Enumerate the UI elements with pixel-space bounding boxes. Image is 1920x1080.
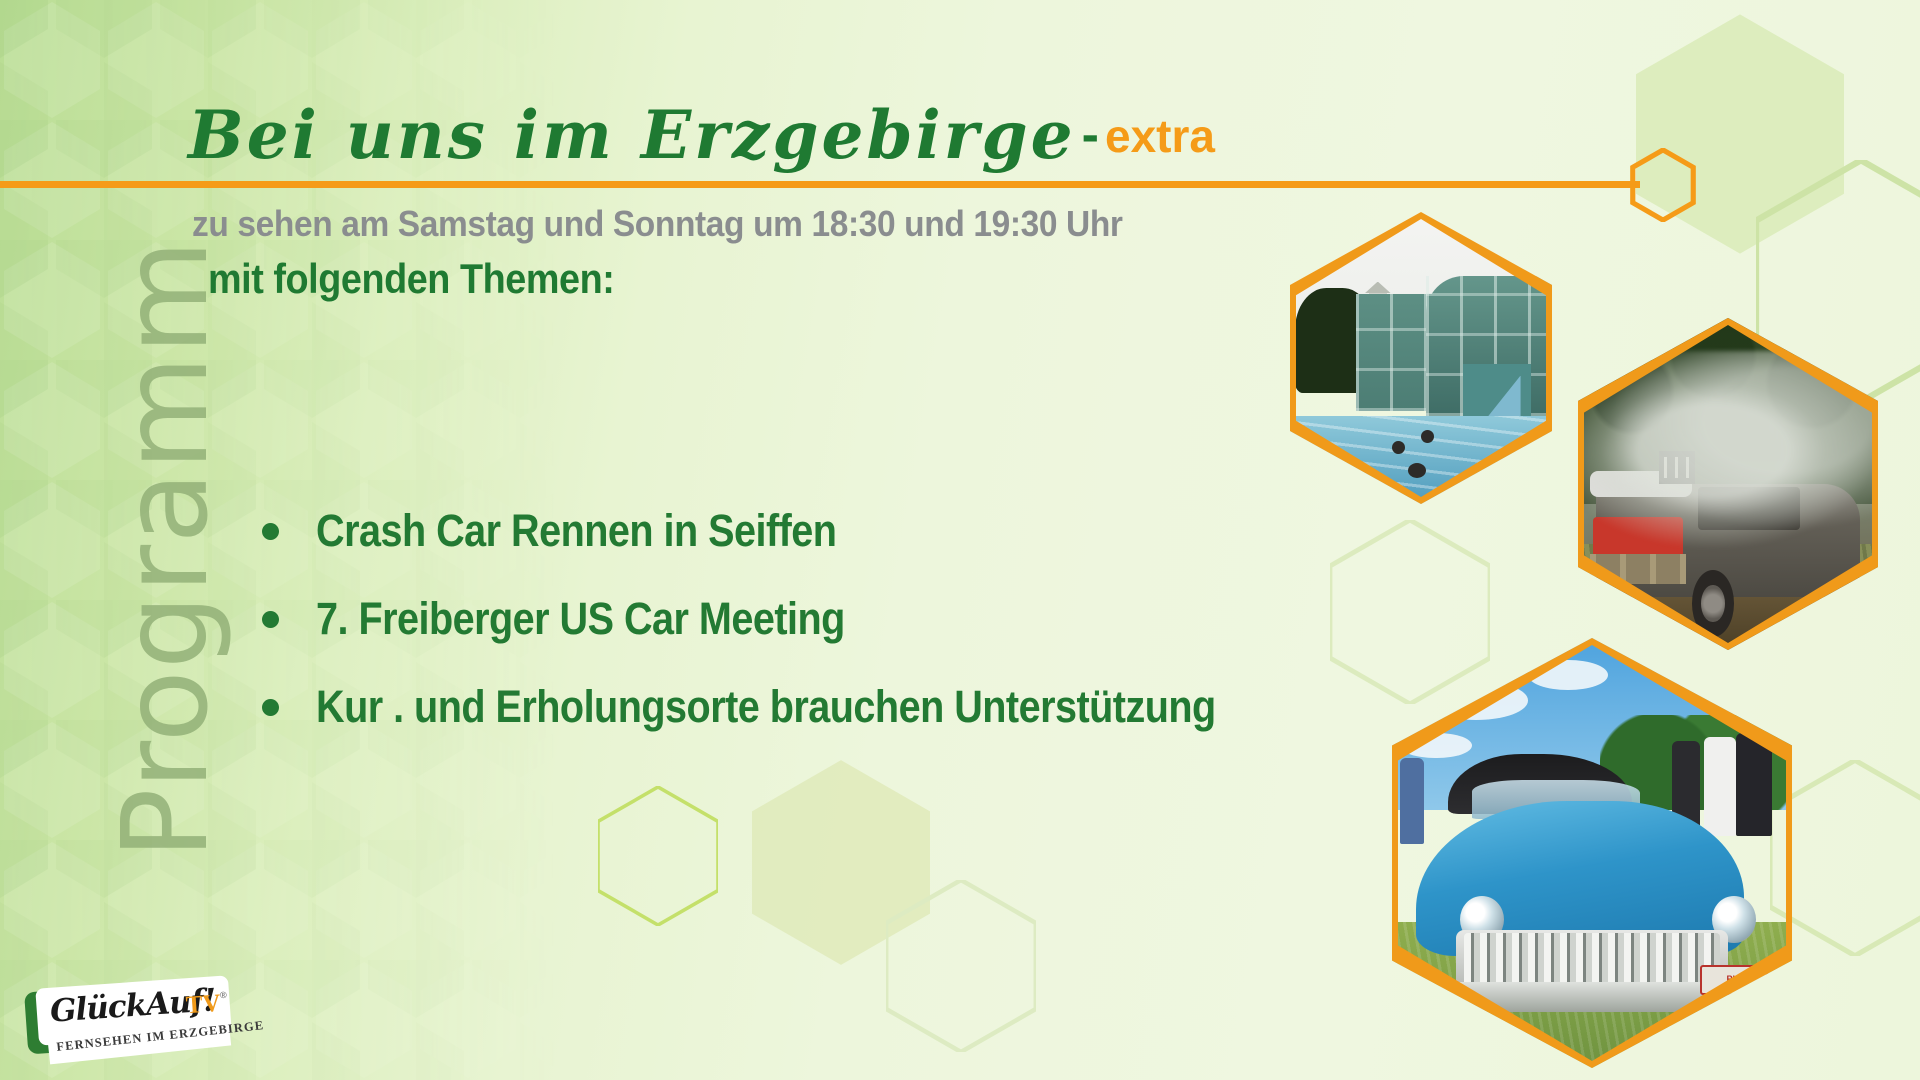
topics-list: Crash Car Rennen in Seiffen 7. Freiberge… (262, 505, 1338, 769)
topics-intro-label: mit folgenden Themen: (208, 255, 614, 303)
hex-photo-swimming-pool (1290, 212, 1552, 504)
topic-label: Kur . und Erholungsorte brauchen Unterst… (316, 681, 1216, 733)
hex-photo-classic-car: PIR (1392, 638, 1792, 1068)
brand-logo: GlückAuf! TV ® FERNSEHEN IM ERZGEBIRGE (26, 982, 236, 1068)
logo-registered-icon: ® (220, 990, 227, 1000)
slide-canvas: Programm Bei uns im Erzgebirge-extra zu … (0, 0, 1920, 1080)
page-title: Bei uns im Erzgebirge-extra (188, 96, 1215, 174)
logo-tv-text: TV (185, 990, 222, 1020)
list-item: Crash Car Rennen in Seiffen (262, 505, 1338, 557)
header-divider-rule (0, 181, 1640, 188)
list-item: 7. Freiberger US Car Meeting (262, 593, 1338, 645)
bullet-icon (262, 611, 279, 628)
hex-photo-crash-car (1578, 318, 1878, 650)
swimming-pool-image (1290, 212, 1552, 504)
bullet-icon (262, 523, 279, 540)
topic-label: Crash Car Rennen in Seiffen (316, 505, 836, 557)
decor-hexagon-far-right (1770, 760, 1920, 956)
topic-label: 7. Freiberger US Car Meeting (316, 593, 845, 645)
classic-car-image: PIR (1392, 638, 1792, 1068)
crash-car-image (1578, 318, 1878, 650)
page-title-dash: - (1076, 106, 1105, 164)
page-title-extra: extra (1105, 110, 1215, 162)
decor-hexagon-outline-lime (598, 786, 718, 926)
list-item: Kur . und Erholungsorte brauchen Unterst… (262, 681, 1338, 733)
bullet-icon (262, 699, 279, 716)
decor-hexagon-outline-bottom (886, 880, 1036, 1052)
page-title-script: Bei uns im Erzgebirge (188, 96, 1076, 174)
rule-end-hexagon-icon (1624, 148, 1702, 222)
broadcast-times-subtitle: zu sehen am Samstag und Sonntag um 18:30… (192, 203, 1123, 245)
